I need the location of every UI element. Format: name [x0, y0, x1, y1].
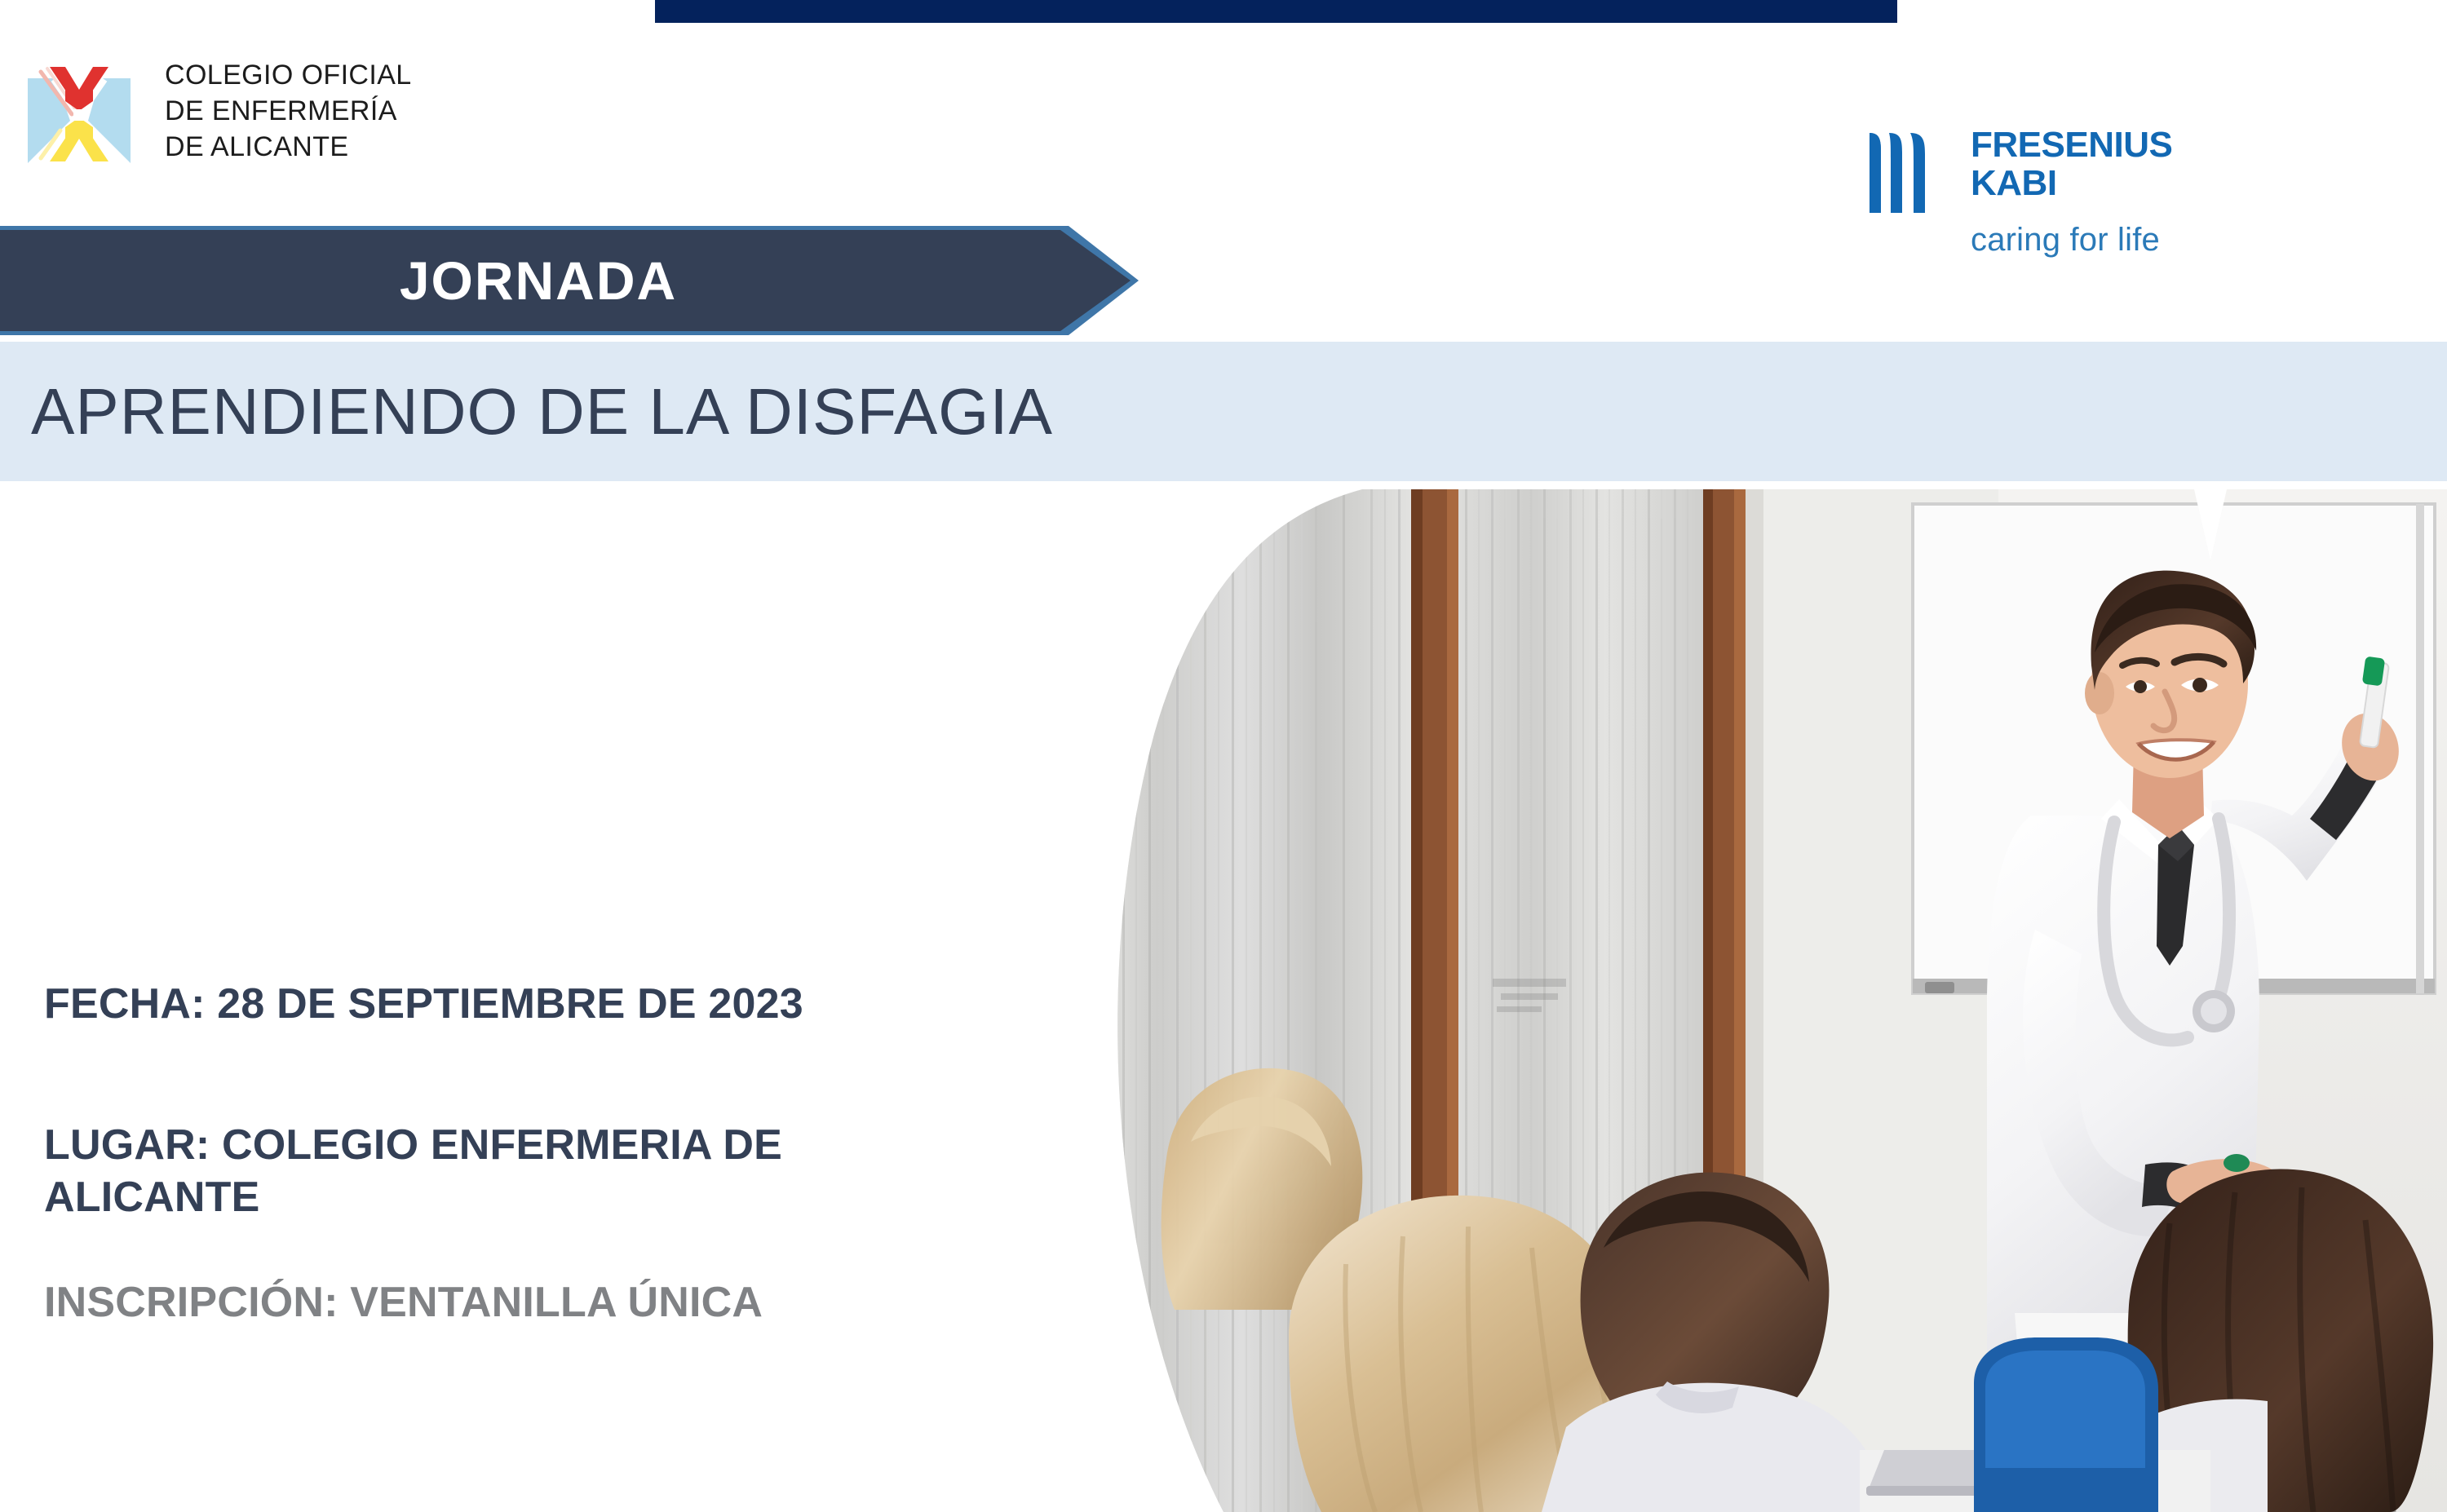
title-band: APRENDIENDO DE LA DISFAGIA [0, 342, 2447, 481]
detail-date: FECHA: 28 DE SEPTIEMBRE DE 2023 [44, 979, 1104, 1030]
colegio-line-2: DE ENFERMERÍA [165, 93, 412, 129]
fresenius-name-line-1: FRESENIUS [1971, 126, 2172, 165]
fresenius-kabi-wordmark: FRESENIUS KABI caring for life [1971, 126, 2172, 256]
top-accent-stripe [655, 0, 1897, 23]
page-title: APRENDIENDO DE LA DISFAGIA [31, 374, 1053, 449]
colegio-line-3: DE ALICANTE [165, 129, 412, 165]
jornada-banner: JORNADA [0, 226, 1139, 335]
detail-registration: INSCRIPCIÓN: VENTANILLA ÚNICA [44, 1277, 1104, 1329]
colegio-line-1: COLEGIO OFICIAL [165, 57, 412, 93]
colegio-logo: COLEGIO OFICIAL DE ENFERMERÍA DE ALICANT… [0, 0, 604, 222]
colegio-x-mark-icon [23, 60, 135, 166]
fresenius-kabi-logo: FRESENIUS KABI caring for life [1868, 126, 2357, 232]
classroom-photo [1085, 489, 2447, 1512]
colegio-logo-text: COLEGIO OFICIAL DE ENFERMERÍA DE ALICANT… [165, 57, 412, 166]
event-details: FECHA: 28 DE SEPTIEMBRE DE 2023 LUGAR: C… [44, 979, 1104, 1329]
jornada-label: JORNADA [0, 226, 1077, 335]
fresenius-waves-icon [1868, 128, 1938, 216]
fresenius-tagline: caring for life [1971, 223, 2172, 256]
detail-place: LUGAR: COLEGIO ENFERMERIA DE ALICANTE [44, 1120, 1007, 1223]
fresenius-name-line-2: KABI [1971, 165, 2172, 203]
